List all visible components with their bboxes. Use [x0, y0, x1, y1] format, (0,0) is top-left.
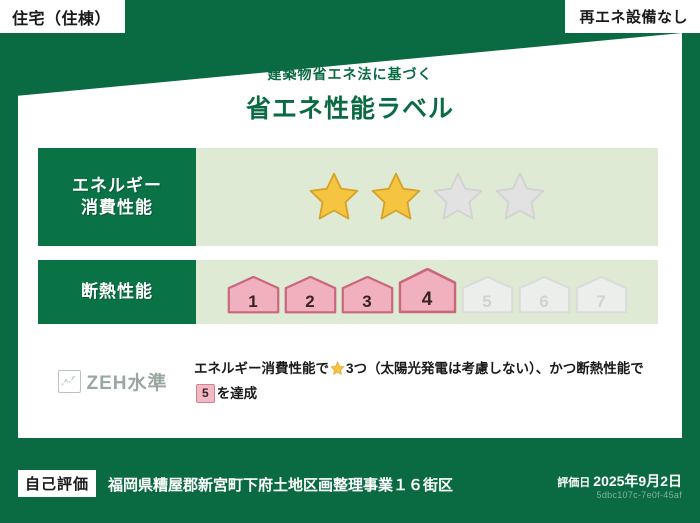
renewable-energy-tag: 再エネ設備なし	[565, 0, 700, 33]
title-block: 建築物省エネ法に基づく 省エネ性能ラベル	[0, 64, 700, 125]
evaluation-date-value: 2025年9月2日	[593, 473, 682, 489]
energy-performance-label: 住宅（住棟） 再エネ設備なし 建築物省エネ法に基づく 省エネ性能ラベル エネルギ…	[0, 0, 700, 523]
insulation-level-4: 4	[398, 268, 457, 314]
evaluation-date: 評価日2025年9月2日	[557, 471, 682, 491]
label-subtitle: 建築物省エネ法に基づく	[0, 64, 700, 84]
zeh-mark-icon	[58, 370, 81, 393]
evaluation-date-label: 評価日	[557, 477, 590, 489]
zeh-desc-part1: エネルギー消費性能で	[194, 361, 329, 376]
insulation-level-number: 6	[518, 292, 571, 312]
insulation-level-number: 5	[461, 292, 514, 312]
page-title: 省エネ性能ラベル	[0, 89, 700, 125]
zeh-logo-text: ZEH水準	[86, 368, 167, 395]
star-icon-filled	[307, 170, 361, 224]
insulation-label: 断熱性能	[81, 281, 153, 303]
insulation-performance-row: 断熱性能 1234567	[38, 260, 658, 324]
zeh-standard-block: ZEH水準 エネルギー消費性能で3つ（太陽光発電は考慮しない）、かつ断熱性能で5…	[38, 358, 658, 405]
insulation-level-number: 4	[398, 289, 457, 311]
self-evaluation-badge: 自己評価	[18, 470, 96, 497]
energy-performance-value	[196, 148, 658, 246]
energy-performance-row: エネルギー 消費性能	[38, 148, 658, 246]
star-rating	[307, 170, 547, 224]
property-address: 福岡県糟屋郡新宮町下府土地区画整理事業１６街区	[108, 474, 453, 495]
insulation-level-7: 7	[575, 276, 628, 314]
footer-bar: 自己評価 福岡県糟屋郡新宮町下府土地区画整理事業１６街区 評価日2025年9月2…	[0, 438, 700, 523]
star-icon-empty	[493, 170, 547, 224]
insulation-level-badge: 5	[196, 384, 215, 403]
insulation-level-number: 3	[341, 292, 394, 312]
star-icon-empty	[431, 170, 485, 224]
star-icon-filled	[369, 170, 423, 224]
evaluation-id: 5dbc107c-7e0f-45af	[597, 490, 682, 500]
insulation-level-5: 5	[461, 276, 514, 314]
zeh-desc-part3: を達成	[217, 386, 258, 401]
zeh-logo: ZEH水準	[38, 368, 188, 395]
zeh-desc-part2: 3つ（太陽光発電は考慮しない）、かつ断熱性能で	[346, 361, 644, 376]
zeh-description: エネルギー消費性能で3つ（太陽光発電は考慮しない）、かつ断熱性能で5を達成	[188, 358, 658, 405]
building-type-tag: 住宅（住棟）	[0, 0, 125, 33]
energy-label-line2: 消費性能	[81, 197, 153, 219]
insulation-level-number: 1	[227, 292, 280, 312]
insulation-level-number: 2	[284, 292, 337, 312]
insulation-level-3: 3	[341, 276, 394, 314]
insulation-level-2: 2	[284, 276, 337, 314]
insulation-level-1: 1	[227, 276, 280, 314]
energy-performance-label-box: エネルギー 消費性能	[38, 148, 196, 246]
insulation-level-number: 7	[575, 292, 628, 312]
insulation-performance-label-box: 断熱性能	[38, 260, 196, 324]
energy-label-line1: エネルギー	[72, 175, 162, 197]
insulation-level-scale: 1234567	[227, 268, 628, 316]
insulation-level-6: 6	[518, 276, 571, 314]
insulation-performance-value: 1234567	[196, 260, 658, 324]
star-icon	[330, 361, 345, 383]
